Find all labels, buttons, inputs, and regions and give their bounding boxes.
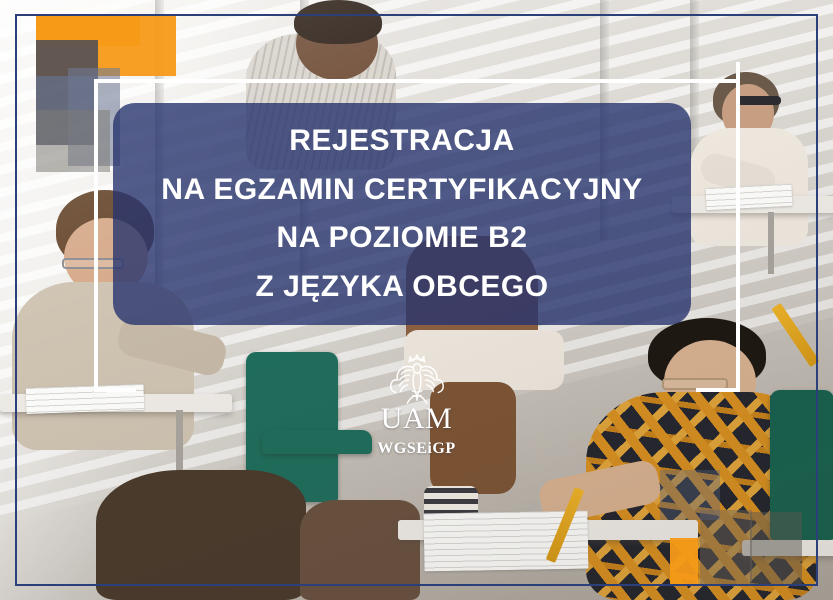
decor-warm-gray-block-a xyxy=(700,510,752,584)
bracket-line-left xyxy=(94,79,98,392)
decor-orange-block-c xyxy=(670,538,698,584)
headline-panel: REJESTRACJA NA EGZAMIN CERTYFIKACYJNY NA… xyxy=(113,103,691,325)
bracket-line-right xyxy=(736,62,740,392)
headline-line-1: REJESTRACJA xyxy=(289,118,515,165)
decor-gray-block xyxy=(36,110,110,172)
headline-line-4: Z JĘZYKA OBCEGO xyxy=(255,264,548,311)
decor-slate-block-c xyxy=(660,470,720,520)
uam-logo: UAM WGSEiGP xyxy=(0,352,833,458)
headline-line-2: NA EGZAMIN CERTYFIKACYJNY xyxy=(161,167,642,214)
faculty-abbreviation: WGSEiGP xyxy=(377,440,455,458)
bracket-line-top xyxy=(94,79,740,83)
polish-eagle-crest-icon xyxy=(386,352,448,408)
headline-line-3: NA POZIOMIE B2 xyxy=(277,215,528,262)
poster-banner: REJESTRACJA NA EGZAMIN CERTYFIKACYJNY NA… xyxy=(0,0,833,600)
decor-warm-gray-block-b xyxy=(750,512,802,586)
university-abbreviation: UAM xyxy=(381,404,453,434)
